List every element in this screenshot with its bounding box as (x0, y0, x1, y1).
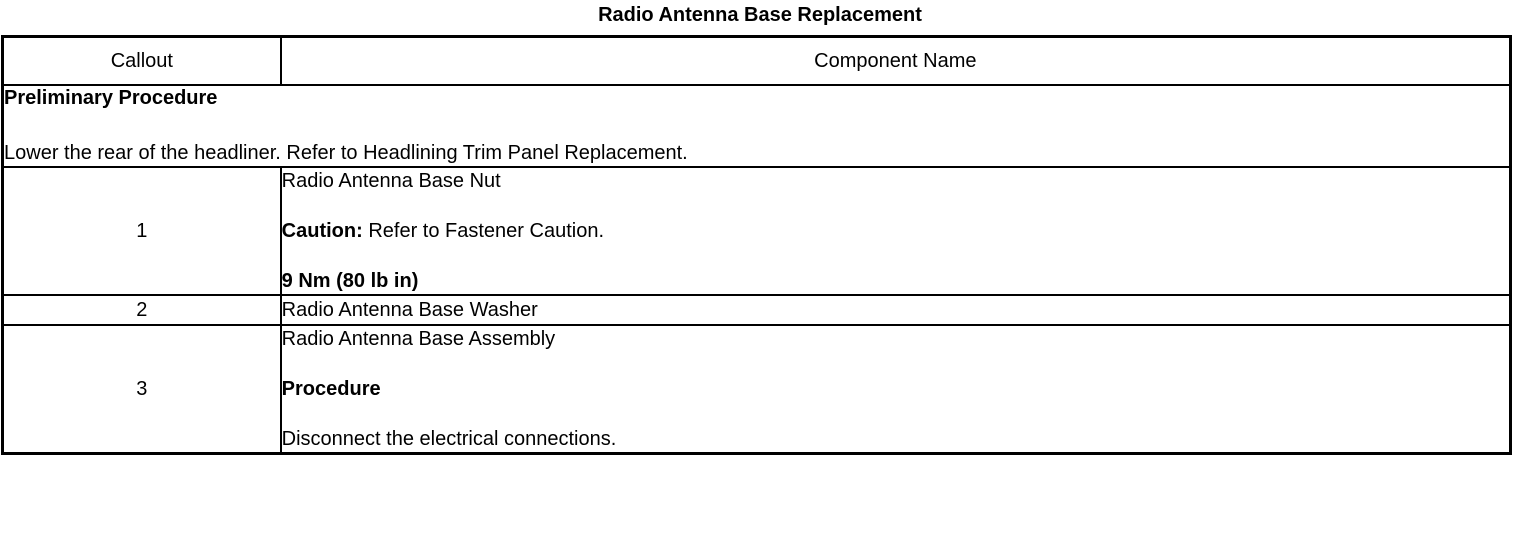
document-page: Radio Antenna Base Replacement Callout C… (0, 0, 1520, 538)
component-cell-3: Radio Antenna Base Assembly Procedure Di… (281, 325, 1511, 454)
callout-number-1: 1 (3, 167, 281, 295)
table-header-row: Callout Component Name (3, 37, 1511, 86)
preliminary-procedure-text: Lower the rear of the headliner. Refer t… (4, 141, 1509, 166)
component-name-3: Radio Antenna Base Assembly (282, 326, 1509, 352)
column-header-callout: Callout (3, 37, 281, 86)
procedure-text-3: Disconnect the electrical connections. (282, 426, 1509, 452)
table-row: 1 Radio Antenna Base Nut Caution: Refer … (3, 167, 1511, 295)
torque-spec-1: 9 Nm (80 lb in) (282, 268, 1509, 294)
caution-text: Refer to Fastener Caution. (363, 220, 604, 242)
preliminary-procedure-heading: Preliminary Procedure (4, 86, 1509, 111)
column-header-component-name: Component Name (281, 37, 1511, 86)
callout-number-2: 2 (3, 295, 281, 325)
preliminary-procedure-row: Preliminary Procedure Lower the rear of … (3, 85, 1511, 167)
caution-label: Caution: (282, 220, 363, 242)
component-cell-1: Radio Antenna Base Nut Caution: Refer to… (281, 167, 1511, 295)
table-row: 3 Radio Antenna Base Assembly Procedure … (3, 325, 1511, 454)
component-name-1: Radio Antenna Base Nut (282, 168, 1509, 194)
page-title: Radio Antenna Base Replacement (0, 0, 1520, 30)
component-caution-1: Caution: Refer to Fastener Caution. (282, 218, 1509, 244)
component-name-2: Radio Antenna Base Washer (282, 296, 1509, 324)
procedure-heading-3: Procedure (282, 376, 1509, 402)
table-row: 2 Radio Antenna Base Washer (3, 295, 1511, 325)
preliminary-procedure-cell: Preliminary Procedure Lower the rear of … (3, 85, 1511, 167)
component-cell-2: Radio Antenna Base Washer (281, 295, 1511, 325)
callout-number-3: 3 (3, 325, 281, 454)
procedure-table: Callout Component Name Preliminary Proce… (1, 35, 1512, 455)
